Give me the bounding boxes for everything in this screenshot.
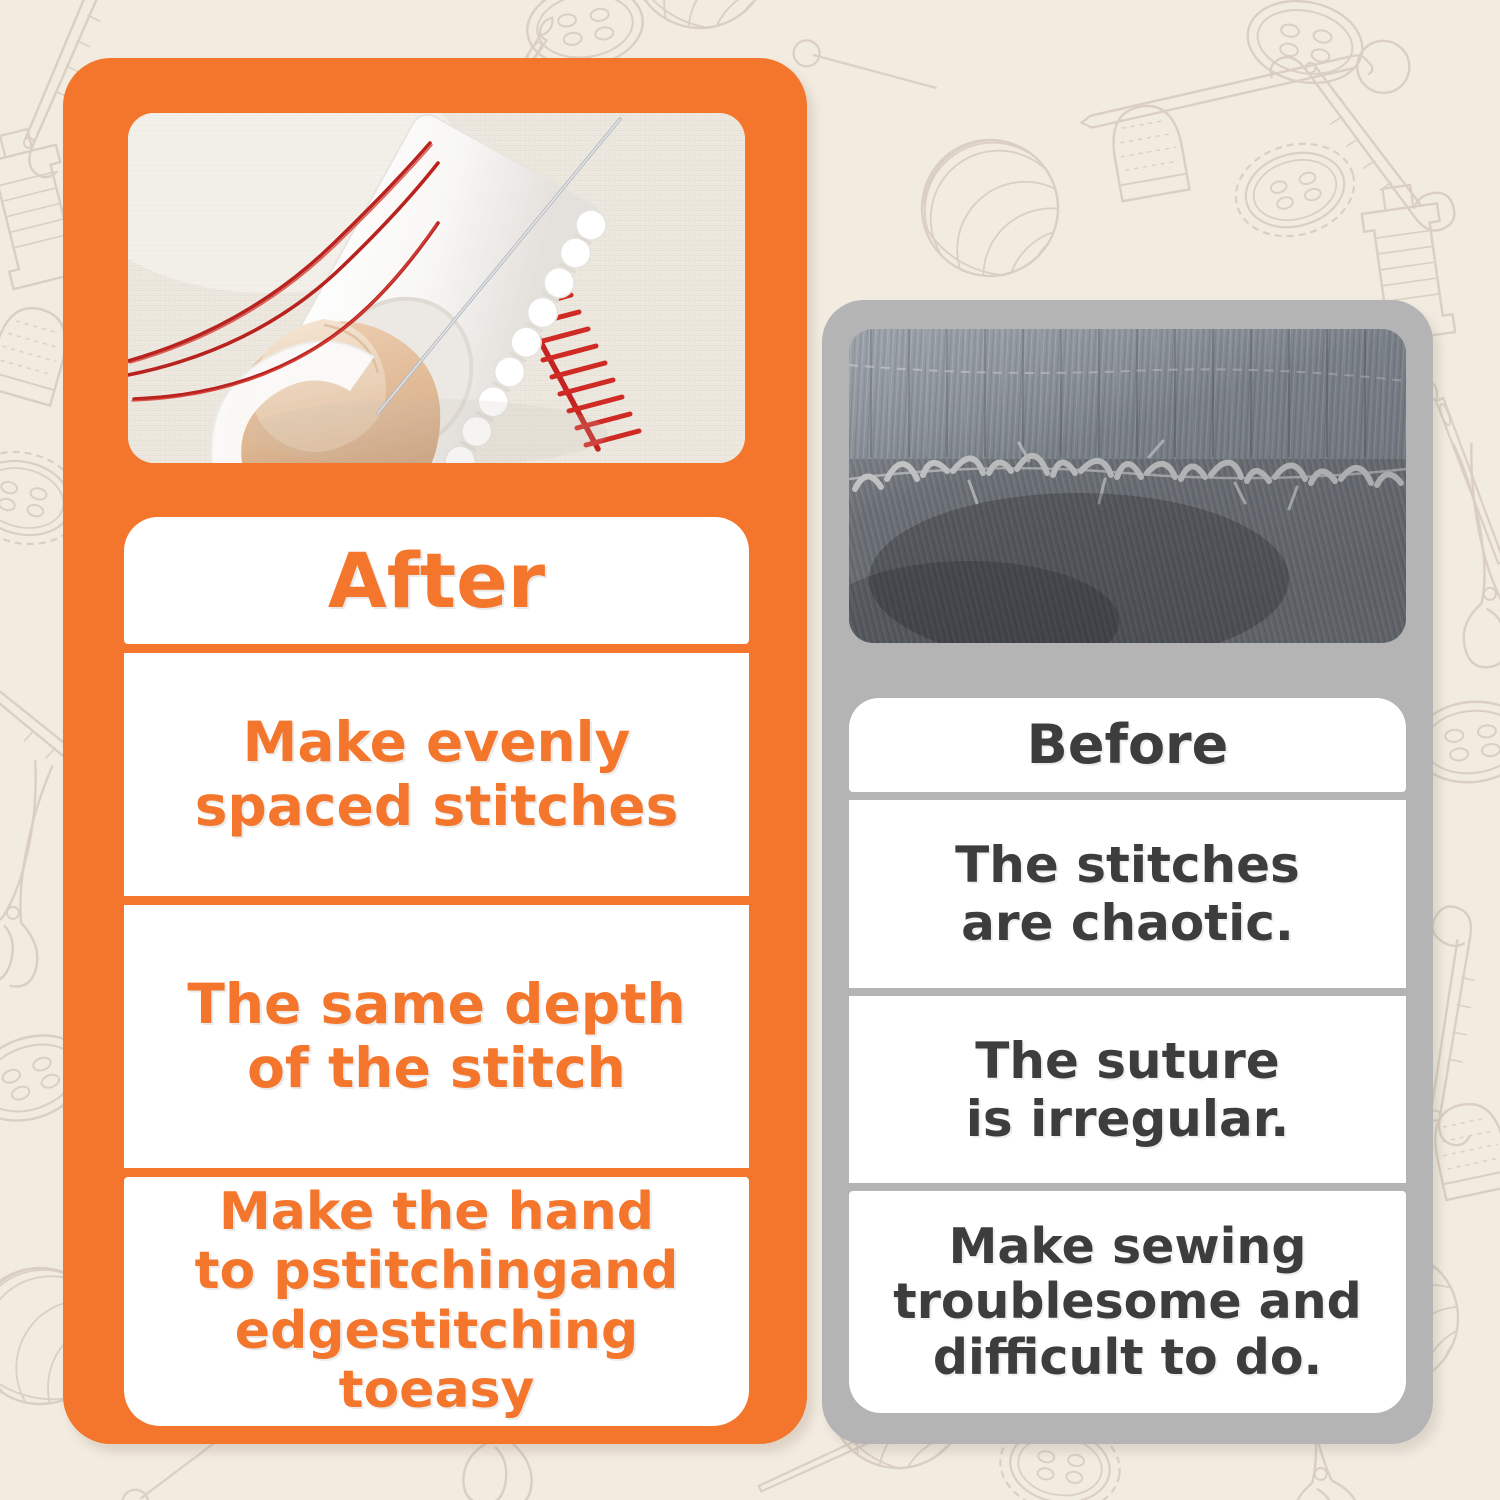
after-benefit-text-3: Make the hand to pstitchingand edgestitc… — [142, 1183, 731, 1420]
before-heading-card: Before — [849, 698, 1406, 792]
after-heading-card: After — [124, 517, 749, 644]
before-problem-card-1: The stitches are chaotic. — [849, 800, 1406, 988]
after-card-stack: After Make evenly spaced stitches The sa… — [124, 517, 749, 1383]
after-benefit-card-1: Make evenly spaced stitches — [124, 653, 749, 896]
before-heading-text: Before — [1027, 717, 1229, 774]
before-problem-card-2: The suture is irregular. — [849, 996, 1406, 1183]
before-card-stack: Before The stitches are chaotic. The sut… — [849, 698, 1406, 1405]
before-problem-card-3: Make sewing troublesome and difficult to… — [849, 1191, 1406, 1413]
after-benefit-card-3: Make the hand to pstitchingand edgestitc… — [124, 1177, 749, 1426]
before-photo — [849, 329, 1406, 643]
after-benefit-text-2: The same depth of the stitch — [187, 973, 685, 1101]
before-problem-text-3: Make sewing troublesome and difficult to… — [893, 1219, 1361, 1385]
after-photo — [128, 113, 745, 463]
before-problem-text-1: The stitches are chaotic. — [955, 836, 1300, 952]
after-benefit-card-2: The same depth of the stitch — [124, 905, 749, 1168]
after-heading-text: After — [328, 541, 545, 621]
before-problem-text-2: The suture is irregular. — [966, 1032, 1289, 1148]
infographic-canvas: After Make evenly spaced stitches The sa… — [0, 0, 1500, 1500]
after-benefit-text-1: Make evenly spaced stitches — [195, 711, 679, 839]
